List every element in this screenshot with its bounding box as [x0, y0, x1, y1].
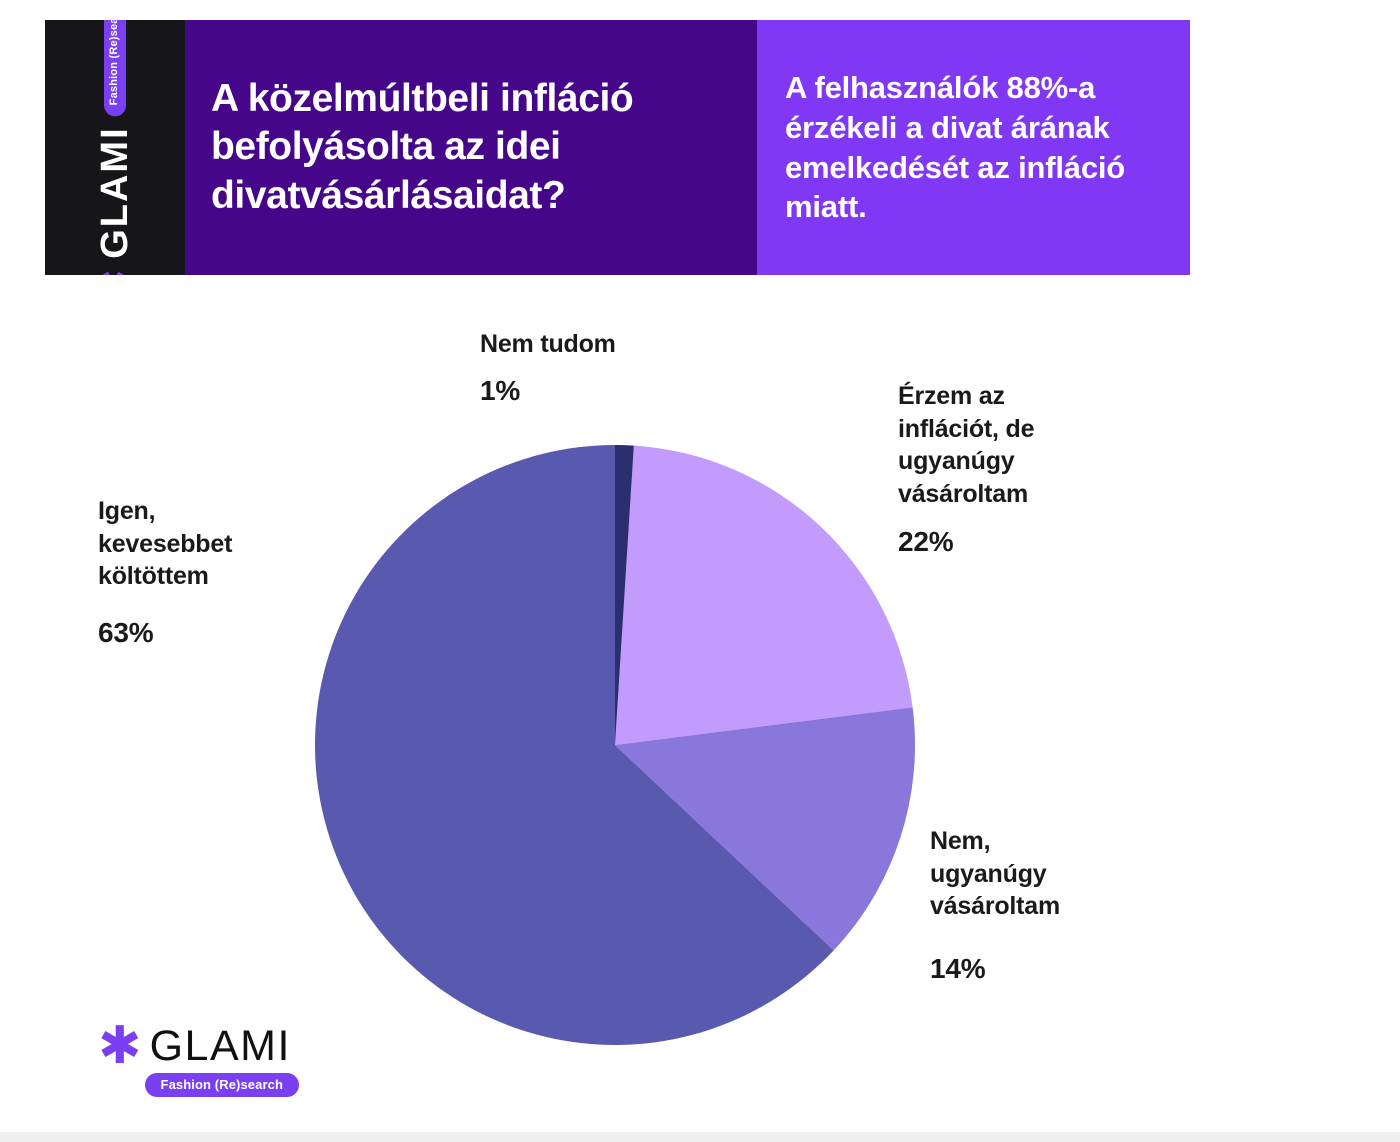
footer-brand-wordmark: GLAMI — [150, 1025, 291, 1068]
footer-brand-tagline-badge: Fashion (Re)search — [145, 1073, 299, 1097]
callout-no-same-label: Nem, ugyanúgy vásároltam — [930, 825, 1060, 923]
bottom-strip — [0, 1132, 1400, 1142]
header-title-panel: A közelmúltbeli infláció befolyásolta az… — [185, 20, 757, 275]
footer-logo-row: ✱ GLAMI — [98, 1025, 328, 1068]
header-stat-panel: A felhasználók 88%-a érzékeli a divat ár… — [757, 20, 1190, 275]
callout-no-same-value: 14% — [930, 953, 1060, 985]
header-stat-text: A felhasználók 88%-a érzékeli a divat ár… — [785, 68, 1162, 227]
callout-dont-know: Nem tudom 1% — [480, 328, 616, 407]
header-bar: ✱ GLAMI Fashion (Re)search A közelmúltbe… — [45, 20, 1190, 275]
callout-same-despite-inflation-value: 22% — [898, 526, 1034, 558]
callout-spent-less-label: Igen, kevesebbet költöttem — [98, 495, 232, 593]
footer-pill-row: Fashion (Re)search — [98, 1073, 299, 1097]
page-title: A közelmúltbeli infláció befolyásolta az… — [211, 75, 729, 220]
callout-dont-know-label: Nem tudom — [480, 328, 616, 361]
pie-chart — [313, 443, 917, 1047]
callout-dont-know-value: 1% — [480, 375, 616, 407]
vertical-brand-logo: ✱ GLAMI Fashion (Re)search — [96, 20, 134, 275]
pie-slice-same-despite-inflation[interactable] — [615, 446, 913, 745]
callout-same-despite-inflation: Érzem az inflációt, de ugyanúgy vásárolt… — [898, 380, 1034, 558]
asterisk-icon: ✱ — [101, 268, 129, 275]
infographic-page: ✱ GLAMI Fashion (Re)search A közelmúltbe… — [0, 0, 1400, 1142]
callout-same-despite-inflation-label: Érzem az inflációt, de ugyanúgy vásárolt… — [898, 380, 1034, 510]
header-logo-panel: ✱ GLAMI Fashion (Re)search — [45, 20, 185, 275]
footer-brand-logo: ✱ GLAMI Fashion (Re)search — [98, 1025, 328, 1097]
callout-spent-less: Igen, kevesebbet költöttem 63% — [98, 495, 232, 649]
chart-area: Nem tudom 1% Érzem az inflációt, de ugya… — [0, 280, 1400, 1142]
pie-chart-svg — [313, 443, 917, 1047]
brand-wordmark: GLAMI — [96, 126, 134, 258]
asterisk-icon: ✱ — [98, 1030, 142, 1062]
callout-spent-less-value: 63% — [98, 617, 232, 649]
brand-tagline-badge: Fashion (Re)search — [104, 20, 126, 116]
callout-no-same: Nem, ugyanúgy vásároltam 14% — [930, 825, 1060, 985]
